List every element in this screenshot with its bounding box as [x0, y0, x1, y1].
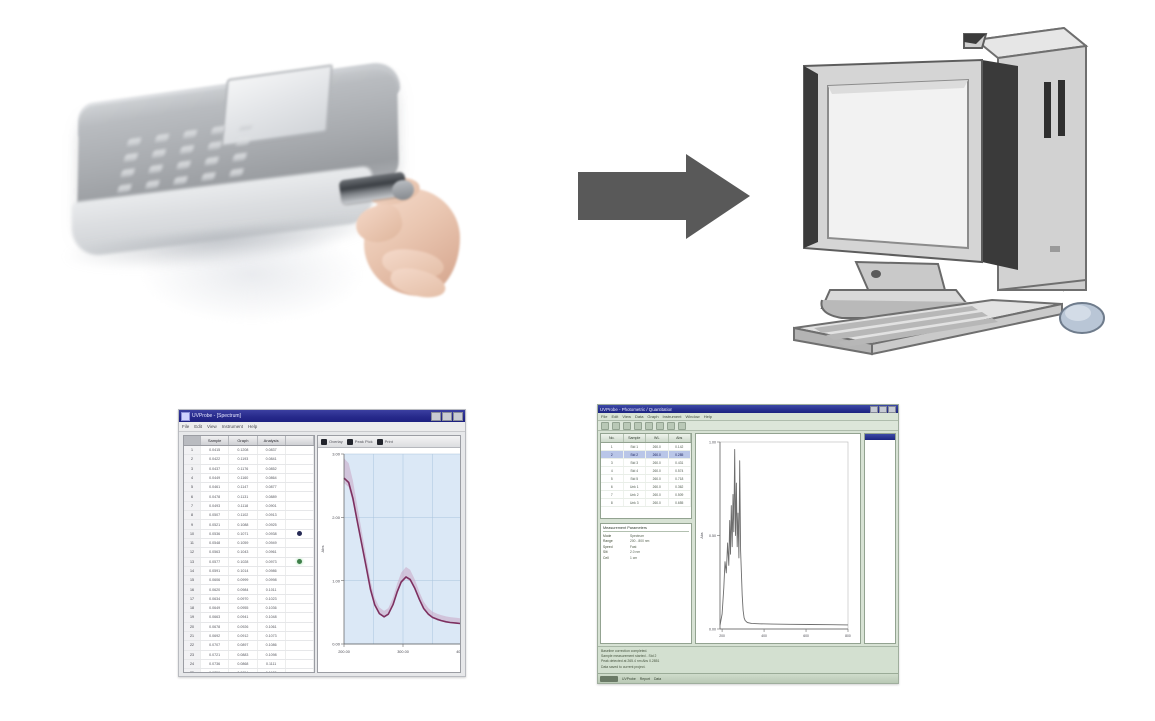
right-app-toolbar[interactable] [598, 421, 898, 431]
right-plot-svg[interactable]: 1.000.500.00200400600800 Abs [696, 434, 856, 644]
table-cell: 0.1088 [229, 520, 257, 528]
right-info-rows: ModeSpectrumRange200 - 800 nmSpeedFastSl… [603, 534, 689, 561]
svg-text:200: 200 [719, 634, 725, 638]
table-row[interactable]: 250.07500.08540.1123 [184, 669, 314, 672]
table-cell: 0.0912 [229, 632, 257, 640]
table-cell: 0.0841 [258, 455, 286, 463]
table-cell: Std 5 [624, 475, 647, 482]
table-cell: 0.1014 [229, 567, 257, 575]
table-row[interactable]: 40.04490.11600.0864 [184, 474, 314, 483]
table-cell: 0.1048 [258, 613, 286, 621]
row-marker [286, 558, 314, 566]
left-column-header[interactable]: Graph [229, 436, 257, 445]
row-marker [286, 539, 314, 547]
baseline-icon[interactable] [656, 422, 664, 430]
info-label: Cell [603, 556, 627, 561]
table-cell: 0.1111 [258, 660, 286, 668]
table-row[interactable]: 200.06780.09260.1061 [184, 623, 314, 632]
table-cell: 3 [184, 465, 201, 473]
left-plot-svg[interactable]: 3.002.001.000.00200.00300.00400.00 Abs [318, 448, 461, 660]
left-menu-item[interactable]: Edit [194, 424, 202, 429]
row-marker [286, 660, 314, 668]
taskbar-item[interactable]: Report [640, 677, 650, 681]
row-marker [286, 623, 314, 631]
table-cell: 0.431 [669, 459, 692, 466]
table-row[interactable]: 6Unk 1260.00.362 [601, 483, 691, 491]
row-marker [286, 576, 314, 584]
row-marker [286, 585, 314, 593]
svg-text:0.00: 0.00 [332, 642, 341, 647]
table-cell: 260.0 [646, 459, 669, 466]
table-row[interactable]: 160.06200.09840.1011 [184, 585, 314, 594]
left-app-menubar[interactable]: FileEditViewInstrumentHelp [179, 422, 465, 432]
taskbar-item[interactable]: UVProbe [622, 677, 636, 681]
right-menu-item[interactable]: File [601, 414, 607, 419]
toolbar-button[interactable]: Peak Pick [347, 439, 373, 445]
table-cell: 0.0493 [201, 502, 229, 510]
table-cell: 0.1176 [229, 465, 257, 473]
table-cell: 0.1102 [229, 511, 257, 519]
row-marker [286, 641, 314, 649]
table-row[interactable]: 220.07070.08970.1086 [184, 641, 314, 650]
svg-text:Abs: Abs [320, 546, 325, 553]
stop-icon[interactable] [678, 422, 686, 430]
instrument-key [152, 149, 166, 158]
right-panel-titlebar[interactable] [865, 434, 895, 440]
table-cell: 0.285 [669, 451, 692, 458]
hand-with-cuvette [334, 154, 466, 304]
minimize-button[interactable] [431, 412, 441, 421]
table-cell: 0.0941 [229, 613, 257, 621]
instrument-key [208, 141, 222, 150]
instrument-key [205, 157, 219, 166]
left-app-title: UVProbe - [Spectrum] [192, 413, 241, 419]
toolbar-button[interactable]: Print [377, 439, 393, 445]
table-cell: 2 [601, 451, 624, 458]
table-cell: 0.1011 [258, 585, 286, 593]
right-info-header: Measurement Parameters [603, 526, 689, 532]
table-cell: 0.0961 [258, 548, 286, 556]
table-cell: 0.0837 [258, 446, 286, 454]
right-menu-item[interactable]: Instrument [663, 414, 682, 419]
table-cell: 4 [601, 467, 624, 474]
left-spectrum-plot[interactable]: 3.002.001.000.00200.00300.00400.00 Abs [318, 448, 460, 672]
table-cell: 0.0461 [201, 483, 229, 491]
right-data-table[interactable]: No.SampleWLAbs 1Std 1260.00.1422Std 2260… [600, 433, 692, 519]
right-left-column: No.SampleWLAbs 1Std 1260.00.1422Std 2260… [598, 431, 694, 646]
table-cell: Std 3 [624, 459, 647, 466]
table-cell: 0.0897 [229, 641, 257, 649]
marker-dot-green [297, 559, 302, 564]
table-cell: 5 [601, 475, 624, 482]
left-data-table[interactable]: SampleGraphAnalysis 10.04150.12080.08372… [183, 435, 315, 673]
table-cell: 0.0449 [201, 474, 229, 482]
table-cell: 0.0663 [201, 613, 229, 621]
save-icon[interactable] [623, 422, 631, 430]
table-row[interactable]: 240.07360.08680.1111 [184, 660, 314, 669]
table-row[interactable]: 60.04780.11310.0889 [184, 492, 314, 501]
table-cell: 0.0949 [258, 539, 286, 547]
svg-text:1.00: 1.00 [332, 578, 341, 583]
table-cell: 0.1028 [229, 558, 257, 566]
right-spectrum-plot[interactable]: 1.000.500.00200400600800 Abs [695, 433, 861, 644]
left-menu-item[interactable]: Help [248, 424, 257, 429]
app-screenshot-spectrum[interactable]: UVProbe - [Spectrum] FileEditViewInstrum… [178, 409, 466, 677]
table-cell: 9 [184, 520, 201, 528]
table-cell: 11 [184, 539, 201, 547]
table-row[interactable]: 10.04150.12080.0837 [184, 446, 314, 455]
right-column-header[interactable]: No. [601, 434, 624, 442]
left-menu-item[interactable]: Instrument [222, 424, 243, 429]
instrument-key [127, 137, 141, 146]
table-cell: 25 [184, 669, 201, 672]
table-row[interactable]: 50.04610.11470.0877 [184, 483, 314, 492]
figure-canvas: UV Probe UVProbe - [Spectrum] FileEditVi… [0, 0, 1155, 721]
left-app-title-group: UVProbe - [Spectrum] [181, 412, 241, 421]
table-cell: 0.0620 [201, 585, 229, 593]
log-line: Data saved to current project. [601, 665, 895, 670]
row-marker [286, 595, 314, 603]
table-cell: 0.509 [669, 491, 692, 498]
table-row[interactable]: 90.05210.10880.0925 [184, 520, 314, 529]
table-cell: 260.0 [646, 443, 669, 450]
table-cell: 0.1193 [229, 455, 257, 463]
table-cell: 0.0864 [258, 474, 286, 482]
table-cell: 0.0913 [258, 511, 286, 519]
app-screenshot-quantitation[interactable]: UVProbe - Photometric / Quantitation Fil… [597, 404, 899, 684]
table-cell: 0.1118 [229, 502, 257, 510]
table-cell: 0.0877 [258, 483, 286, 491]
table-row[interactable]: 130.05770.10280.0973 [184, 558, 314, 567]
right-window-buttons[interactable] [870, 406, 896, 413]
table-cell: 0.1073 [258, 632, 286, 640]
table-cell: 0.1059 [229, 539, 257, 547]
table-cell: 0.0998 [258, 576, 286, 584]
table-cell: 0.655 [669, 499, 692, 506]
right-app-titlebar[interactable]: UVProbe - Photometric / Quantitation [598, 405, 898, 413]
table-cell: 0.0984 [229, 585, 257, 593]
table-cell: 1 [184, 446, 201, 454]
table-cell: 0.1023 [258, 595, 286, 603]
table-row[interactable]: 150.06060.09990.0998 [184, 576, 314, 585]
svg-text:0.00: 0.00 [709, 628, 716, 632]
table-cell: 0.1098 [258, 651, 286, 659]
left-column-header[interactable]: Analysis [258, 436, 286, 445]
left-column-header[interactable] [184, 436, 201, 445]
right-arrow-icon [578, 152, 750, 242]
table-cell: 0.0437 [201, 465, 229, 473]
table-row[interactable]: 190.06630.09410.1048 [184, 613, 314, 622]
close-button[interactable] [453, 412, 463, 421]
table-row[interactable]: 4Std 4260.00.574 [601, 467, 691, 475]
left-window-buttons[interactable] [431, 412, 463, 421]
table-cell: 0.0707 [201, 641, 229, 649]
table-cell: 0.1123 [258, 669, 286, 672]
table-row[interactable]: 80.05070.11020.0913 [184, 511, 314, 520]
table-cell: 13 [184, 558, 201, 566]
table-cell: 0.1043 [229, 548, 257, 556]
table-row[interactable]: 3Std 3260.00.431 [601, 459, 691, 467]
table-row[interactable]: 20.04220.11930.0841 [184, 455, 314, 464]
table-row[interactable]: 8Unk 3260.00.655 [601, 499, 691, 507]
table-cell: 0.0548 [201, 539, 229, 547]
table-cell: 0.1036 [258, 604, 286, 612]
table-cell: 0.0507 [201, 511, 229, 519]
table-cell: 0.1061 [258, 623, 286, 631]
table-cell: 0.1086 [258, 641, 286, 649]
table-row[interactable]: 7Unk 2260.00.509 [601, 491, 691, 499]
instrument-key [173, 176, 187, 185]
table-cell: 14 [184, 567, 201, 575]
svg-text:200.00: 200.00 [338, 650, 350, 654]
left-app-body: SampleGraphAnalysis 10.04150.12080.08372… [179, 432, 465, 677]
table-cell: 260.0 [646, 499, 669, 506]
left-column-header[interactable] [286, 436, 314, 445]
table-cell: Std 2 [624, 451, 647, 458]
row-marker [286, 474, 314, 482]
table-row[interactable]: 70.04930.11180.0901 [184, 502, 314, 511]
table-cell: 8 [184, 511, 201, 519]
print-icon[interactable] [634, 422, 642, 430]
table-cell: 0.0634 [201, 595, 229, 603]
svg-text:Abs: Abs [700, 532, 704, 538]
right-menu-item[interactable]: View [622, 414, 631, 419]
right-column-header[interactable]: WL [646, 434, 669, 442]
instrument-key [183, 130, 197, 139]
desktop-computer-icon [786, 22, 1106, 362]
right-column-header[interactable]: Abs [669, 434, 692, 442]
instrument-key [124, 153, 138, 162]
instrument-key [155, 134, 169, 143]
table-cell: 0.0925 [258, 520, 286, 528]
table-cell: 260.0 [646, 491, 669, 498]
svg-text:1.00: 1.00 [709, 441, 716, 445]
table-cell: 0.0478 [201, 492, 229, 500]
right-menu-item[interactable]: Help [704, 414, 712, 419]
taskbar-item[interactable]: Data [654, 677, 661, 681]
table-cell: 0.718 [669, 475, 692, 482]
table-cell: 0.574 [669, 467, 692, 474]
table-cell: 6 [601, 483, 624, 490]
table-row[interactable]: 180.06490.09550.1036 [184, 604, 314, 613]
left-table-rows[interactable]: 10.04150.12080.083720.04220.11930.084130… [184, 446, 314, 672]
toolbar-button-label: Print [385, 439, 393, 444]
row-marker [286, 520, 314, 528]
row-marker [286, 548, 314, 556]
table-row[interactable]: 120.05630.10430.0961 [184, 548, 314, 557]
row-marker [286, 632, 314, 640]
table-cell: Unk 1 [624, 483, 647, 490]
table-cell: 260.0 [646, 475, 669, 482]
table-cell: 0.0999 [229, 576, 257, 584]
table-cell: 0.0736 [201, 660, 229, 668]
info-value: 1 cm [630, 556, 637, 561]
row-marker [286, 492, 314, 500]
row-marker [286, 483, 314, 491]
flow-arrow [578, 152, 750, 242]
table-cell: Unk 2 [624, 491, 647, 498]
table-cell: 0.0591 [201, 567, 229, 575]
table-cell: 16 [184, 585, 201, 593]
table-cell: 0.0678 [201, 623, 229, 631]
table-cell: 21 [184, 632, 201, 640]
table-cell: 0.0577 [201, 558, 229, 566]
table-cell: 8 [601, 499, 624, 506]
table-cell: 260.0 [646, 451, 669, 458]
row-marker [286, 465, 314, 473]
right-column-header[interactable]: Sample [624, 434, 647, 442]
right-side-panel[interactable] [864, 433, 896, 644]
table-cell: 0.0938 [258, 530, 286, 538]
open-icon[interactable] [612, 422, 620, 430]
table-cell: 260.0 [646, 483, 669, 490]
row-marker [286, 669, 314, 672]
left-menu-item[interactable]: File [182, 424, 189, 429]
table-cell: 5 [184, 483, 201, 491]
table-row[interactable]: 170.06340.09700.1023 [184, 595, 314, 604]
instrument-key [236, 137, 250, 146]
right-menu-item[interactable]: Window [685, 414, 699, 419]
left-app-titlebar[interactable]: UVProbe - [Spectrum] [179, 410, 465, 422]
table-cell: 0.0986 [258, 567, 286, 575]
svg-text:400.00: 400.00 [456, 650, 461, 654]
table-cell: 0.1071 [229, 530, 257, 538]
table-row[interactable]: 230.07210.08830.1098 [184, 651, 314, 660]
table-cell: 7 [184, 502, 201, 510]
table-cell: 0.0955 [229, 604, 257, 612]
left-graph-toolbar[interactable]: OverlayPeak PickPrint [318, 436, 460, 448]
table-cell: Std 1 [624, 443, 647, 450]
computer-illustration: UV Probe [786, 22, 1106, 362]
right-menu-item[interactable]: Graph [647, 414, 658, 419]
table-cell: 2 [184, 455, 201, 463]
table-cell: 24 [184, 660, 201, 668]
svg-text:3.00: 3.00 [332, 452, 341, 457]
svg-text:800: 800 [845, 634, 851, 638]
instrument-key [180, 145, 194, 154]
table-cell: 23 [184, 651, 201, 659]
table-row[interactable]: 140.05910.10140.0986 [184, 567, 314, 576]
start-icon[interactable] [667, 422, 675, 430]
maximize-button[interactable] [442, 412, 452, 421]
overlay-icon [321, 439, 327, 445]
right-menu-item[interactable]: Data [635, 414, 643, 419]
right-app-title: UVProbe - Photometric / Quantitation [600, 407, 672, 412]
table-cell: 0.0970 [229, 595, 257, 603]
table-cell: 0.1208 [229, 446, 257, 454]
row-marker [286, 455, 314, 463]
table-cell: 0.0973 [258, 558, 286, 566]
row-marker [286, 511, 314, 519]
table-cell: 10 [184, 530, 201, 538]
instrument-key [149, 164, 163, 173]
table-row[interactable]: 210.06920.09120.1073 [184, 632, 314, 641]
row-marker [286, 604, 314, 612]
table-cell: 0.0901 [258, 502, 286, 510]
toolbar-button-label: Overlay [329, 439, 343, 444]
table-cell: 1 [601, 443, 624, 450]
table-cell: 0.0868 [229, 660, 257, 668]
left-column-header[interactable]: Sample [201, 436, 229, 445]
toolbar-button-label: Peak Pick [355, 439, 373, 444]
table-cell: 0.0649 [201, 604, 229, 612]
table-row[interactable]: 1Std 1260.00.142 [601, 443, 691, 451]
instrument-key [145, 180, 159, 189]
table-row[interactable]: 2Std 2260.00.285 [601, 451, 691, 459]
table-row[interactable]: 5Std 5260.00.718 [601, 475, 691, 483]
app-icon [181, 412, 190, 421]
table-cell: 0.0536 [201, 530, 229, 538]
table-cell: 0.0889 [258, 492, 286, 500]
close-button[interactable] [888, 406, 896, 413]
left-graph-pane[interactable]: OverlayPeak PickPrint 3.002.001.000.0020… [317, 435, 461, 673]
table-cell: 0.0854 [229, 669, 257, 672]
table-cell: 0.0415 [201, 446, 229, 454]
info-row: Cell1 cm [603, 556, 689, 561]
right-table-header: No.SampleWLAbs [601, 434, 691, 443]
table-cell: 0.0750 [201, 669, 229, 672]
table-cell: 0.0422 [201, 455, 229, 463]
svg-text:2.00: 2.00 [332, 515, 341, 520]
table-cell: 22 [184, 641, 201, 649]
table-cell: 19 [184, 613, 201, 621]
right-info-panel: Measurement Parameters ModeSpectrumRange… [600, 523, 692, 644]
table-row[interactable]: 100.05360.10710.0938 [184, 530, 314, 539]
table-cell: 3 [601, 459, 624, 466]
start-button[interactable] [600, 676, 618, 682]
table-cell: 0.1131 [229, 492, 257, 500]
spectrophotometer-photo [52, 34, 482, 334]
minimize-button[interactable] [870, 406, 878, 413]
table-cell: 0.0721 [201, 651, 229, 659]
connect-icon[interactable] [645, 422, 653, 430]
table-cell: Std 4 [624, 467, 647, 474]
table-row[interactable]: 30.04370.11760.0852 [184, 465, 314, 474]
row-marker [286, 530, 314, 538]
left-menu-item[interactable]: View [207, 424, 217, 429]
peak-pick-icon [347, 439, 353, 445]
instrument-key [121, 168, 135, 177]
svg-text:300.00: 300.00 [397, 650, 409, 654]
right-app-menubar[interactable]: FileEditViewDataGraphInstrumentWindowHel… [598, 413, 898, 421]
data-print-icon [377, 439, 383, 445]
marker-dot-dark [297, 531, 302, 536]
new-icon[interactable] [601, 422, 609, 430]
svg-text:400: 400 [761, 634, 767, 638]
table-cell: 0.0926 [229, 623, 257, 631]
toolbar-button[interactable]: Overlay [321, 439, 343, 445]
table-cell: 12 [184, 548, 201, 556]
right-taskbar[interactable]: UVProbeReportData [598, 673, 899, 683]
table-cell: 0.0521 [201, 520, 229, 528]
maximize-button[interactable] [879, 406, 887, 413]
table-cell: 0.1147 [229, 483, 257, 491]
table-cell: 17 [184, 595, 201, 603]
table-cell: Unk 3 [624, 499, 647, 506]
table-cell: 260.0 [646, 467, 669, 474]
right-menu-item[interactable]: Edit [611, 414, 618, 419]
table-cell: 0.0606 [201, 576, 229, 584]
instrument-key [229, 168, 243, 177]
instrument-key [201, 172, 215, 181]
table-cell: 7 [601, 491, 624, 498]
svg-text:0.50: 0.50 [709, 534, 716, 538]
right-table-rows[interactable]: 1Std 1260.00.1422Std 2260.00.2853Std 326… [601, 443, 691, 507]
table-row[interactable]: 110.05480.10590.0949 [184, 539, 314, 548]
table-cell: 18 [184, 604, 201, 612]
table-cell: 6 [184, 492, 201, 500]
instrument-key [117, 184, 131, 193]
